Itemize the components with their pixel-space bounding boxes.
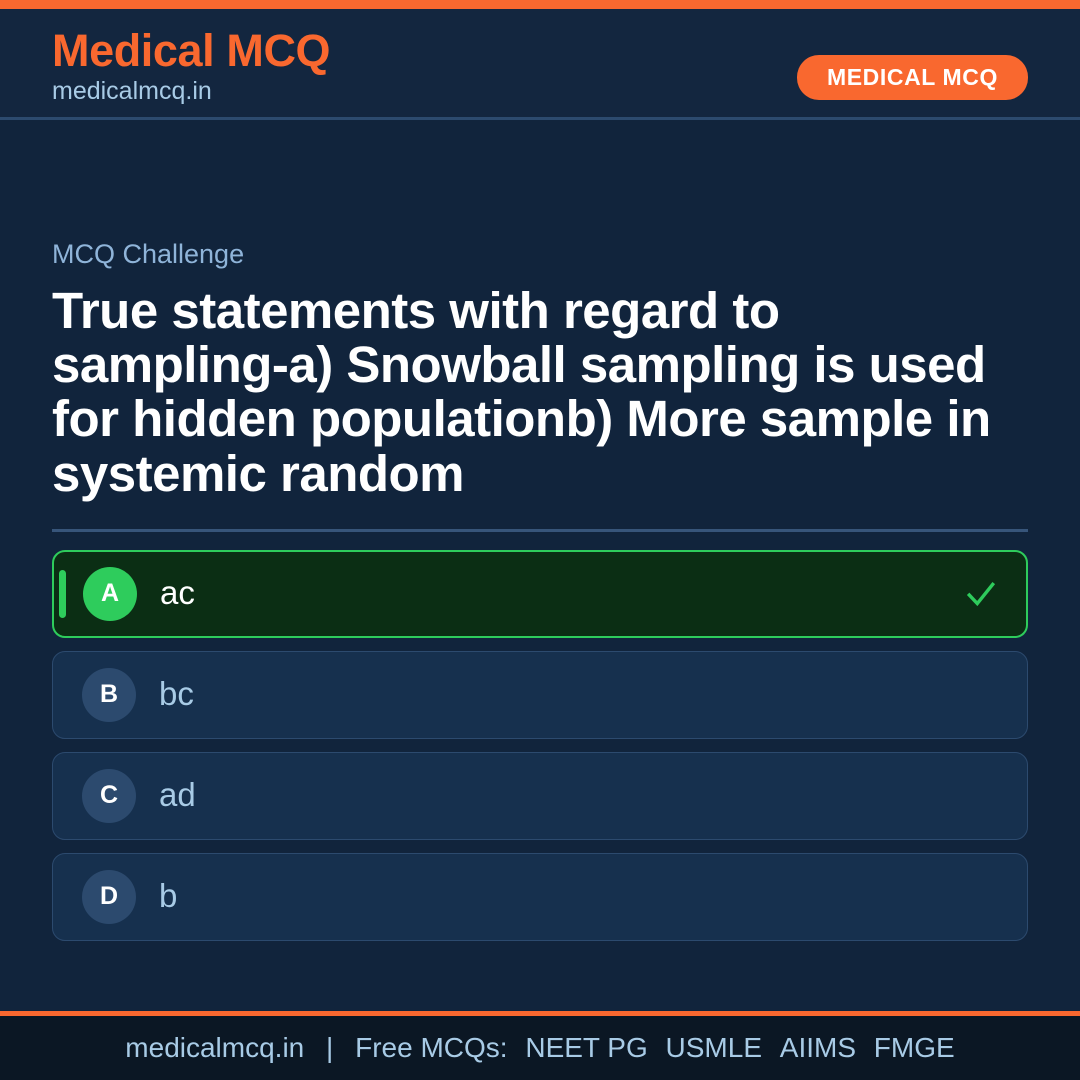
- option-c[interactable]: C ad: [52, 752, 1028, 840]
- header: Medical MCQ medicalmcq.in MEDICAL MCQ: [0, 9, 1080, 120]
- option-c-text: ad: [159, 777, 999, 813]
- header-badge: MEDICAL MCQ: [797, 55, 1028, 100]
- footer: medicalmcq.in | Free MCQs: NEET PG USMLE…: [0, 1011, 1080, 1080]
- option-d-text: b: [159, 878, 999, 914]
- option-a-letter: A: [83, 567, 137, 621]
- eyebrow-label: MCQ Challenge: [52, 238, 1028, 270]
- footer-text: medicalmcq.in | Free MCQs: NEET PG USMLE…: [125, 1032, 954, 1064]
- footer-label: Free MCQs:: [355, 1032, 507, 1063]
- correct-accent-bar: [59, 570, 66, 618]
- brand: Medical MCQ medicalmcq.in: [52, 27, 330, 106]
- option-d[interactable]: D b: [52, 853, 1028, 941]
- option-d-letter: D: [82, 870, 136, 924]
- brand-title: Medical MCQ: [52, 27, 330, 74]
- option-b-text: bc: [159, 676, 999, 712]
- footer-tag-usmle: USMLE: [656, 1032, 762, 1063]
- footer-site: medicalmcq.in: [125, 1032, 304, 1063]
- option-a[interactable]: A ac: [52, 550, 1028, 638]
- check-icon: [964, 577, 998, 611]
- footer-tag-aiims: AIIMS: [770, 1032, 856, 1063]
- top-accent-bar: [0, 0, 1080, 9]
- question-text: True statements with regard to sampling-…: [52, 284, 1028, 500]
- footer-separator: |: [312, 1032, 347, 1063]
- option-b[interactable]: B bc: [52, 651, 1028, 739]
- question-divider: [52, 529, 1028, 532]
- options-list: A ac B bc C ad: [52, 550, 1028, 941]
- mcq-card: Medical MCQ medicalmcq.in MEDICAL MCQ MC…: [0, 0, 1080, 1080]
- brand-subtitle: medicalmcq.in: [52, 76, 330, 106]
- main-content: MCQ Challenge True statements with regar…: [0, 120, 1080, 1011]
- option-a-text: ac: [160, 575, 964, 611]
- footer-tag-fmge: FMGE: [864, 1032, 955, 1063]
- footer-tag-neet-pg: NEET PG: [515, 1032, 647, 1063]
- option-b-letter: B: [82, 668, 136, 722]
- option-c-letter: C: [82, 769, 136, 823]
